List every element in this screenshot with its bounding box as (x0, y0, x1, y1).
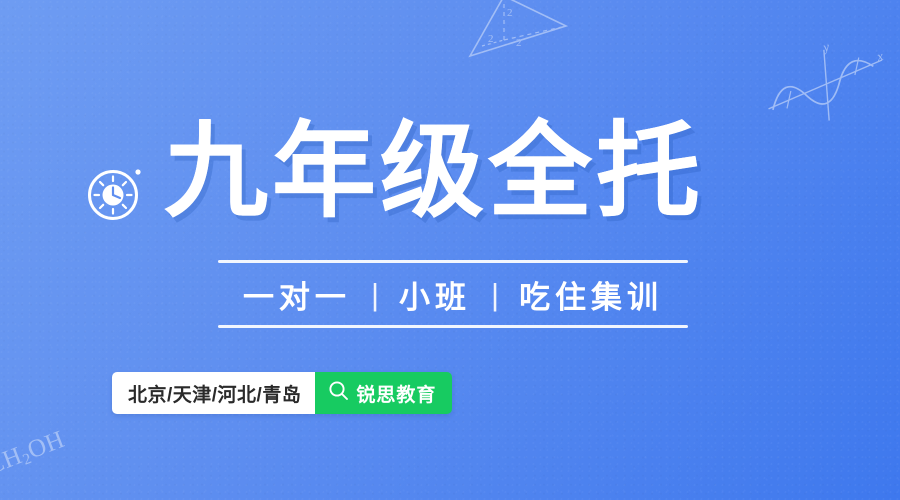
clock-icon (82, 164, 144, 231)
page-title: 九年级全托 (164, 120, 704, 224)
title-row: 九年级全托 (82, 112, 704, 231)
subtitle-item-3: 吃住集训 (519, 272, 663, 317)
search-icon (328, 380, 349, 407)
subtitle-separator-1: | (371, 277, 379, 313)
promo-banner: 2 2 2 y x HO —CH2OH (0, 0, 900, 500)
cities-label: 北京/天津/河北/青岛 (112, 372, 315, 414)
brand-search-button[interactable]: 锐思教育 (315, 372, 452, 414)
banner-content: 九年级全托 一对一 | 小班 | 吃住集训 北京/天津/河北/青岛 (0, 0, 900, 500)
location-brand-badge[interactable]: 北京/天津/河北/青岛 锐思教育 (112, 372, 452, 414)
brand-label: 锐思教育 (356, 380, 436, 407)
subtitle-item-1: 一对一 (243, 272, 351, 317)
subtitle-item-2: 小班 (399, 272, 471, 317)
subtitle-row: 一对一 | 小班 | 吃住集训 (218, 263, 688, 325)
divider-bottom (218, 325, 688, 328)
subtitle-separator-2: | (491, 277, 499, 313)
subtitle-block: 一对一 | 小班 | 吃住集训 (218, 260, 688, 328)
